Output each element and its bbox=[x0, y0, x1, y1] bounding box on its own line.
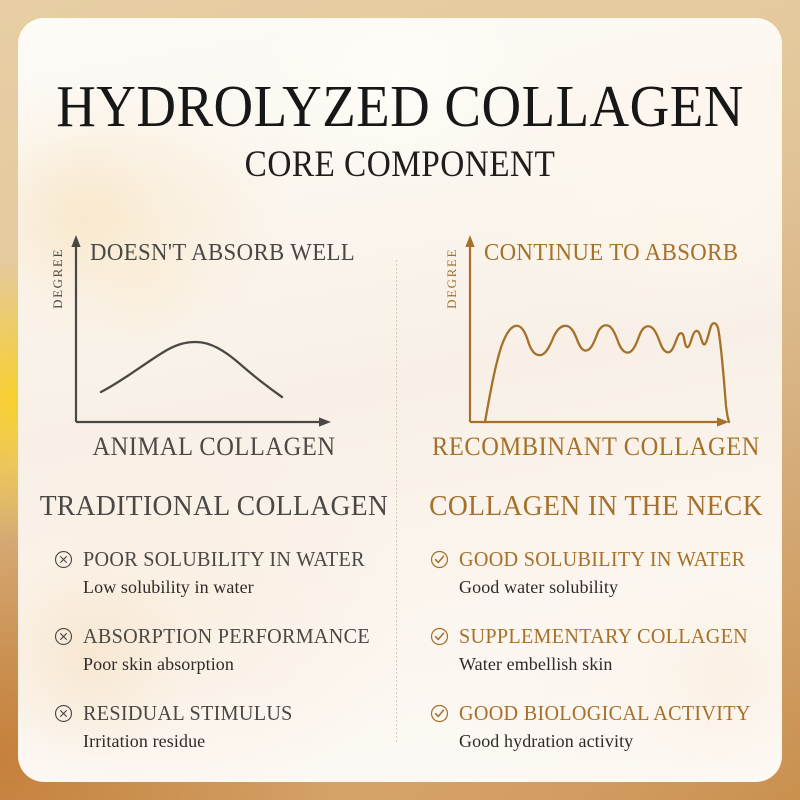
list-item: RESIDUAL STIMULUS Irritation residue bbox=[54, 701, 400, 752]
feature-description: Good water solubility bbox=[459, 577, 782, 598]
circle-check-icon bbox=[430, 550, 449, 569]
feature-head: ABSORPTION PERFORMANCE bbox=[54, 624, 400, 649]
feature-description: Good hydration activity bbox=[459, 731, 782, 752]
feature-head: GOOD BIOLOGICAL ACTIVITY bbox=[430, 701, 782, 726]
circle-check-icon bbox=[430, 704, 449, 723]
circle-check-icon bbox=[430, 627, 449, 646]
feature-head: POOR SOLUBILITY IN WATER bbox=[54, 547, 400, 572]
chart-heading: DOESN'T ABSORB WELL bbox=[90, 240, 355, 267]
page-title: HYDROLYZED COLLAGEN bbox=[45, 74, 756, 138]
feature-list-negative: POOR SOLUBILITY IN WATER Low solubility … bbox=[28, 547, 400, 752]
feature-title: GOOD BIOLOGICAL ACTIVITY bbox=[459, 701, 751, 726]
feature-description: Water embellish skin bbox=[459, 654, 782, 675]
page-subtitle: CORE COMPONENT bbox=[56, 143, 744, 187]
section-heading-recombinant: COLLAGEN IN THE NECK bbox=[419, 490, 772, 523]
chart-x-axis-label: RECOMBINANT COLLAGEN bbox=[421, 432, 771, 462]
feature-title: SUPPLEMENTARY COLLAGEN bbox=[459, 624, 748, 649]
circle-x-icon bbox=[54, 704, 73, 723]
feature-description: Irritation residue bbox=[83, 731, 400, 752]
list-item: POOR SOLUBILITY IN WATER Low solubility … bbox=[54, 547, 400, 598]
feature-title: RESIDUAL STIMULUS bbox=[83, 701, 293, 726]
circle-x-icon bbox=[54, 627, 73, 646]
feature-description: Low solubility in water bbox=[83, 577, 400, 598]
feature-list-positive: GOOD SOLUBILITY IN WATER Good water solu… bbox=[410, 547, 782, 752]
chart-recombinant-collagen: DEGREE CONTINUE TO ABSORB bbox=[426, 230, 766, 430]
feature-description: Poor skin absorption bbox=[83, 654, 400, 675]
content-card: HYDROLYZED COLLAGEN CORE COMPONENT DEGRE… bbox=[18, 18, 782, 782]
section-heading-traditional: TRADITIONAL COLLAGEN bbox=[37, 490, 390, 523]
feature-head: SUPPLEMENTARY COLLAGEN bbox=[430, 624, 782, 649]
feature-title: ABSORPTION PERFORMANCE bbox=[83, 624, 370, 649]
infographic-frame: HYDROLYZED COLLAGEN CORE COMPONENT DEGRE… bbox=[0, 0, 800, 800]
feature-head: RESIDUAL STIMULUS bbox=[54, 701, 400, 726]
right-column: DEGREE CONTINUE TO ABSORB RECOMBINANT CO… bbox=[410, 230, 782, 752]
chart-animal-collagen: DEGREE DOESN'T ABSORB WELL bbox=[44, 230, 384, 430]
list-item: GOOD SOLUBILITY IN WATER Good water solu… bbox=[430, 547, 782, 598]
feature-title: POOR SOLUBILITY IN WATER bbox=[83, 547, 365, 572]
chart-heading: CONTINUE TO ABSORB bbox=[484, 240, 738, 267]
list-item: GOOD BIOLOGICAL ACTIVITY Good hydration … bbox=[430, 701, 782, 752]
chart-x-axis-label: ANIMAL COLLAGEN bbox=[39, 432, 389, 462]
chart-y-axis-label: DEGREE bbox=[50, 248, 66, 309]
feature-head: GOOD SOLUBILITY IN WATER bbox=[430, 547, 782, 572]
circle-x-icon bbox=[54, 550, 73, 569]
left-column: DEGREE DOESN'T ABSORB WELL ANIMAL COLLAG… bbox=[28, 230, 400, 752]
list-item: ABSORPTION PERFORMANCE Poor skin absorpt… bbox=[54, 624, 400, 675]
feature-title: GOOD SOLUBILITY IN WATER bbox=[459, 547, 745, 572]
chart-y-axis-label: DEGREE bbox=[444, 248, 460, 309]
list-item: SUPPLEMENTARY COLLAGEN Water embellish s… bbox=[430, 624, 782, 675]
